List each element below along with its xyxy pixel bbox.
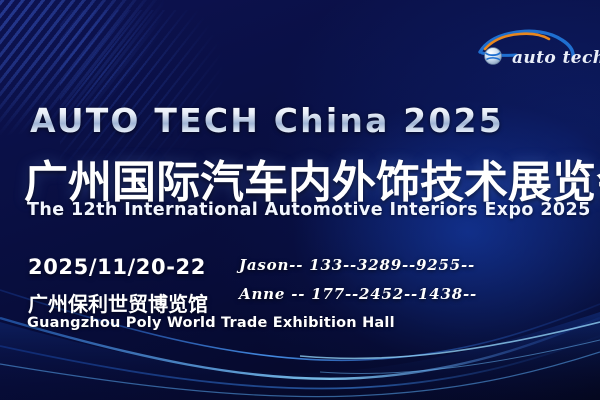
venue-english: Guangzhou Poly World Trade Exhibition Ha…	[27, 315, 395, 331]
exhibition-banner: auto tech AUTO TECH China 2025 广州国际汽车内外饰…	[0, 0, 600, 400]
event-date: 2025/11/20-22	[28, 255, 206, 279]
contact-jason: Jason-- 133--3289--9255--	[239, 256, 475, 274]
banner-content: AUTO TECH China 2025 广州国际汽车内外饰技术展览会 The …	[0, 0, 600, 400]
contact-anne: Anne -- 177--2452--1438--	[239, 285, 477, 303]
venue-chinese: 广州保利世贸博览馆	[28, 288, 208, 317]
subtitle-english: The 12th International Automotive Interi…	[27, 200, 591, 220]
title-english: AUTO TECH China 2025	[30, 101, 504, 140]
